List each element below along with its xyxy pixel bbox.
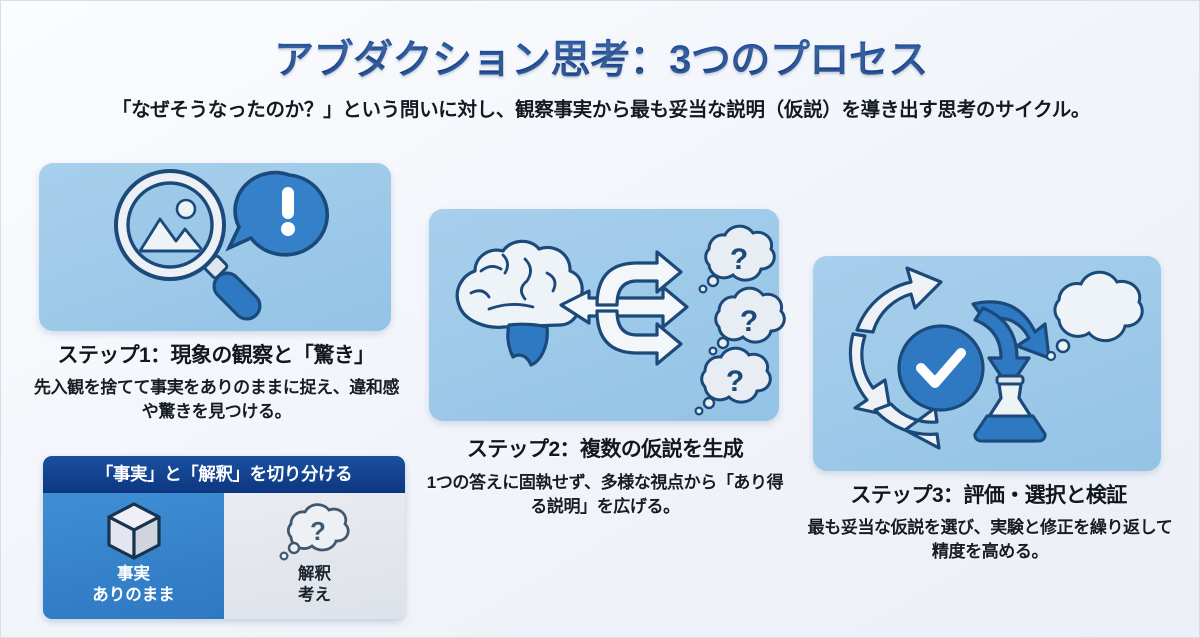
compare-fact-line2: ありのまま: [92, 585, 175, 606]
flask-icon: [975, 376, 1045, 441]
svg-text:?: ?: [726, 365, 744, 398]
page-title: アブダクション思考：3つのプロセス: [1, 27, 1200, 85]
question-thought-cloud-icon: ? ? ?: [696, 226, 785, 414]
compare-interpretation-line1: 解釈: [298, 564, 331, 585]
step-3-illustration: [813, 256, 1161, 471]
question-thought-bubble-icon: ?: [277, 500, 353, 562]
page-subtitle: 「なぜそうなったのか？」という問いに対し、観察事実から最も妥当な説明（仮説）を導…: [1, 93, 1200, 122]
step-3-description: 最も妥当な仮説を選び、実験と修正を繰り返して精度を高める。: [806, 516, 1174, 564]
branching-arrows-icon: [561, 252, 687, 364]
step-1-illustration: [39, 163, 391, 331]
step-1-label: ステップ1：現象の観察と「驚き」: [21, 339, 411, 369]
compare-panel-body: 事実 ありのまま ? 解釈 考え: [43, 493, 405, 619]
svg-text:?: ?: [310, 516, 326, 546]
step-3-label: ステップ3：評価・選択と検証: [801, 479, 1176, 509]
compare-interpretation-line2: 考え: [298, 585, 331, 606]
step-1-card: [39, 163, 391, 331]
compare-panel-header: 「事実」と「解釈」を切り分ける: [43, 456, 405, 493]
step-2-card: ? ? ?: [429, 209, 779, 421]
cube-icon: [103, 500, 165, 562]
compare-fact-line1: 事実: [117, 564, 150, 585]
svg-text:?: ?: [740, 305, 758, 338]
fact-vs-interpretation-panel: 「事実」と「解釈」を切り分ける 事実 ありのまま ?: [43, 456, 405, 619]
exclamation-speech-bubble-icon: [229, 173, 327, 255]
infographic-canvas: アブダクション思考：3つのプロセス 「なぜそうなったのか？」という問いに対し、観…: [0, 0, 1200, 638]
step-2-illustration: ? ? ?: [429, 209, 779, 421]
cloud-icon: [1047, 272, 1142, 360]
step-3-card: [813, 256, 1161, 471]
svg-text:?: ?: [730, 243, 748, 276]
check-circle-icon: [899, 326, 983, 410]
step-2-label: ステップ2：複数の仮説を生成: [416, 433, 794, 463]
step-2-description: 1つの答えに固執せず、多様な視点から「あり得る説明」を広げる。: [421, 471, 789, 519]
step-1-description: 先入観を捨てて事実をありのままに捉え、違和感や驚きを見つける。: [29, 376, 404, 424]
compare-column-interpretation: ? 解釈 考え: [224, 493, 405, 619]
compare-column-fact: 事実 ありのまま: [43, 493, 224, 619]
